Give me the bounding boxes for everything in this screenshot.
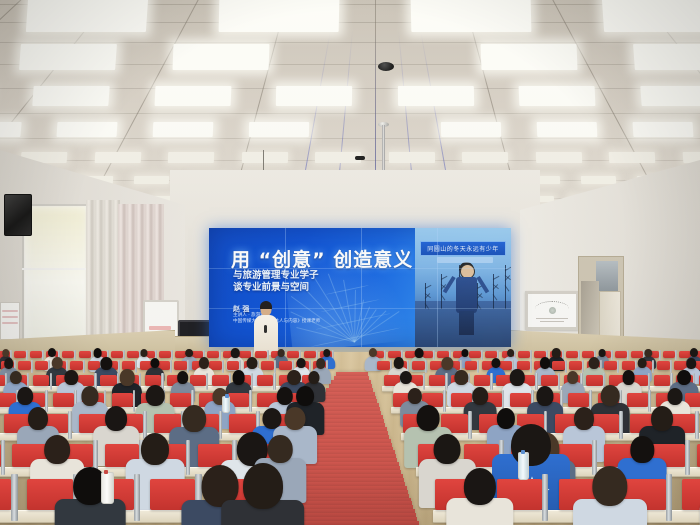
water-bottle-front — [222, 396, 230, 413]
audience-member — [573, 466, 647, 525]
audience-member — [446, 468, 513, 525]
water-bottle — [518, 452, 529, 480]
slide-photo-banner-text: 同圆山的冬天永远有少年 — [420, 241, 506, 256]
slide-photo-person — [453, 264, 479, 334]
milk-bottle — [101, 472, 114, 504]
slide-subtitle: 与旅游管理专业学子 谈专业前景与空间 — [233, 270, 319, 294]
wall-speaker-icon — [4, 194, 32, 236]
microphone-icon — [264, 325, 267, 333]
window-mullion — [22, 268, 88, 270]
presenter — [252, 303, 280, 355]
slide-subtitle-line2: 谈专业前景与空间 — [233, 282, 319, 294]
audience-member — [55, 467, 126, 525]
door-transom-glass — [596, 261, 618, 291]
audience-member — [221, 463, 305, 525]
slide-subtitle-line1: 与旅游管理专业学子 — [233, 270, 319, 282]
wall-poster — [0, 302, 20, 340]
lecture-hall-photo: 同圆山的冬天永远有少年 用 “创意” 创造意义 与旅游管理专业学子 谈专业前景与… — [0, 0, 700, 525]
smoke-detector-icon — [378, 62, 394, 71]
wall-plaque — [525, 291, 579, 330]
